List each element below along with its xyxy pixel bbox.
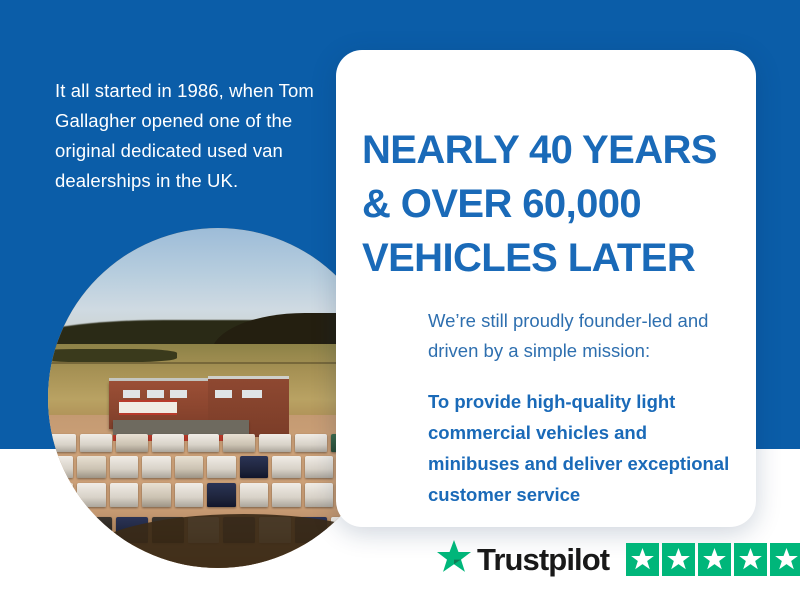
photo-window [123, 390, 140, 399]
photo-window [147, 390, 164, 399]
rating-star-icon [662, 543, 695, 576]
trustpilot-wordmark: Trustpilot [477, 544, 609, 575]
mission-statement: To provide high-quality light commercial… [428, 386, 740, 510]
photo-window [170, 390, 187, 399]
rating-star-icon [698, 543, 731, 576]
trustpilot-star-icon [437, 540, 471, 578]
photo-dealership-sign [119, 400, 177, 415]
trustpilot-stars [626, 543, 800, 576]
page-title: NEARLY 40 YEARS & OVER 60,000 VEHICLES L… [362, 123, 738, 285]
photo-window [215, 390, 232, 399]
intro-paragraph: It all started in 1986, when Tom Gallagh… [55, 76, 317, 196]
trustpilot-logo[interactable]: Trustpilot [437, 540, 609, 578]
promo-banner: It all started in 1986, when Tom Gallagh… [0, 0, 800, 600]
photo-hedgerow [48, 349, 177, 363]
card-subheading: We’re still proudly founder-led and driv… [428, 306, 738, 366]
trustpilot-rating[interactable]: Trustpilot [437, 540, 800, 578]
content-card: NEARLY 40 YEARS & OVER 60,000 VEHICLES L… [336, 50, 756, 527]
rating-star-icon [626, 543, 659, 576]
rating-star-icon [734, 543, 767, 576]
rating-star-icon [770, 543, 800, 576]
photo-window [242, 390, 262, 399]
